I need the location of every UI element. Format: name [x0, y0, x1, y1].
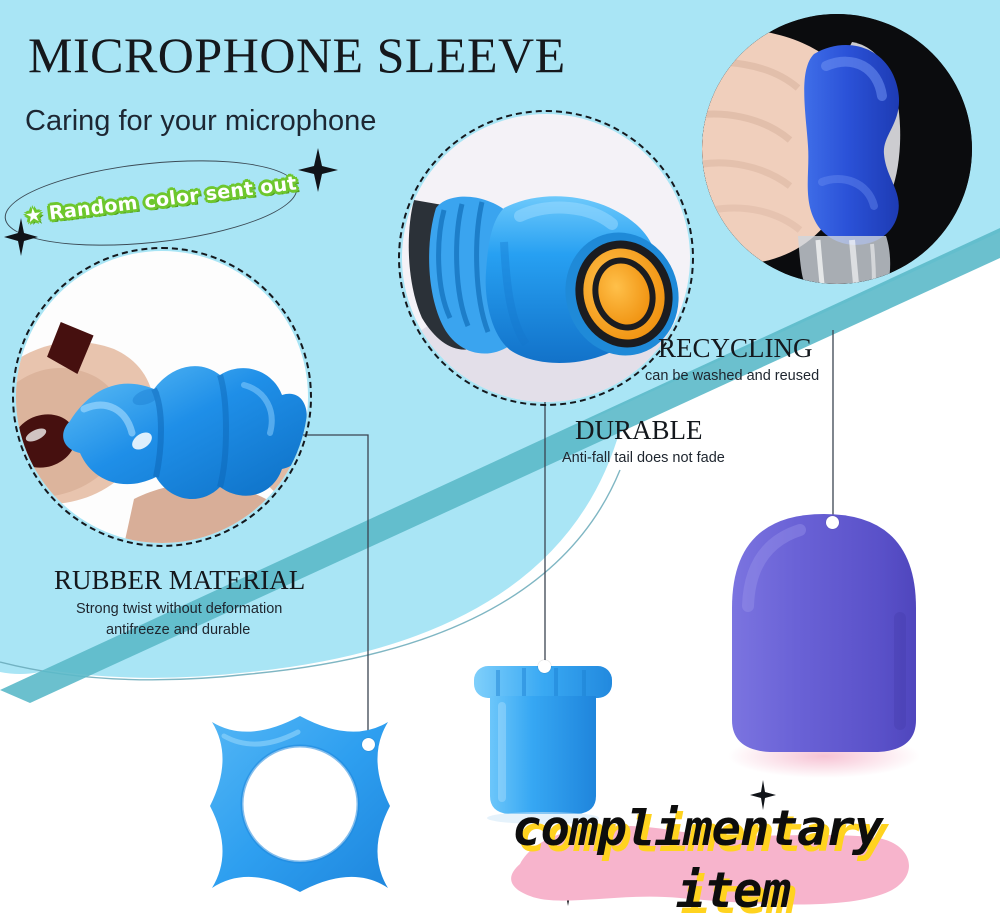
footer-wordart-line2: item [676, 862, 790, 919]
feature-heading-durable: DURABLE [575, 415, 703, 446]
callout-dot-silicone-cup [538, 660, 551, 673]
photo-durable [398, 110, 694, 406]
footer-wordart-line1: complimentary [512, 800, 883, 857]
feature-sub-recycling: can be washed and reused [645, 368, 819, 384]
callout-dot-foam-windscreen [826, 516, 839, 529]
feature-heading-rubber-material: RUBBER MATERIAL [54, 565, 305, 596]
photo-rubber-material [12, 247, 312, 547]
photo-recycling [702, 14, 972, 284]
product-foam-windscreen [716, 498, 936, 778]
product-anti-roll-ring [190, 700, 410, 910]
feature-sub-rubber-2: antifreeze and durable [106, 622, 250, 638]
feature-sub-durable: Anti-fall tail does not fade [562, 450, 725, 466]
feature-sub-rubber-1: Strong twist without deformation [76, 601, 282, 617]
callout-dot-anti-roll-ring [362, 738, 375, 751]
feature-heading-recycling: RECYCLING [658, 333, 813, 364]
infographic-canvas: MICROPHONE SLEEVE Caring for your microp… [0, 0, 1000, 923]
